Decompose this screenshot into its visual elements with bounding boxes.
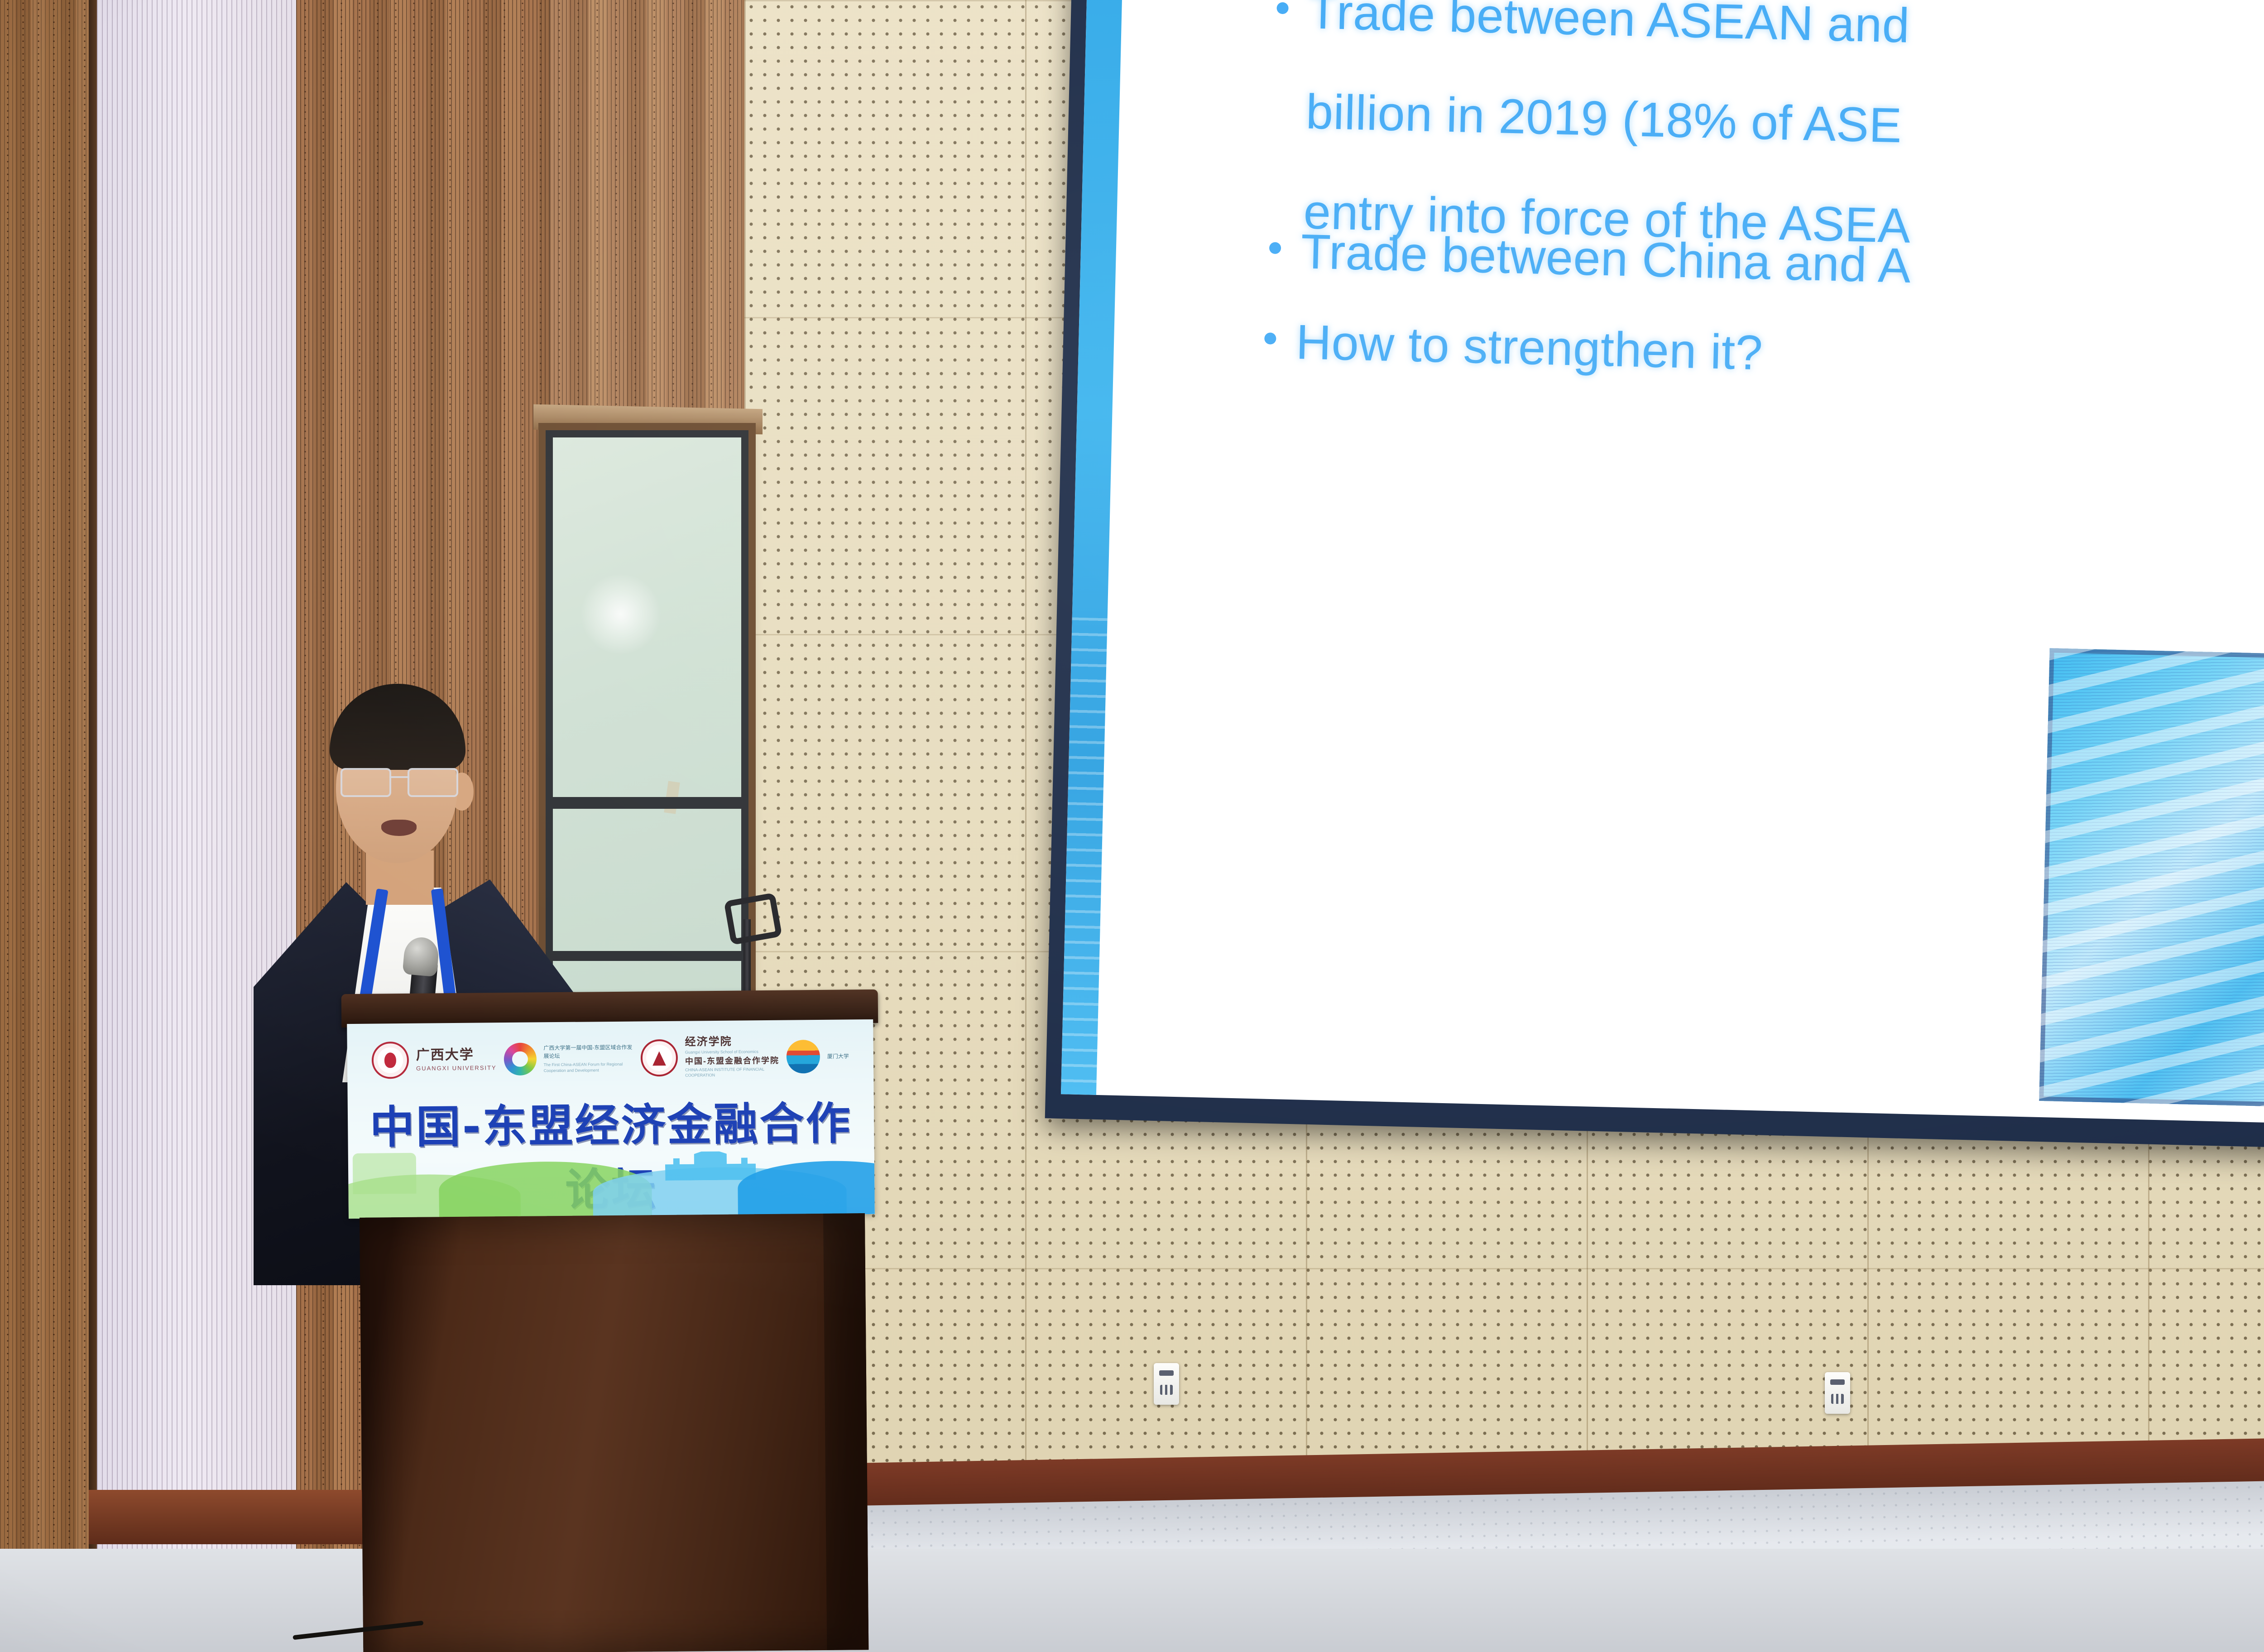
school-of-economics-name-block: 经济学院 Guangxi University School of Econom… (685, 1036, 779, 1079)
banner-artwork (348, 1146, 875, 1219)
bullet-4-line-1: How to strengthen it? (1295, 313, 1764, 381)
slide-accent-stripe (1061, 0, 1123, 1095)
slide-bullet-4: How to strengthen it? (1264, 312, 1764, 381)
forum-name-block: 广西大学第一届中国-东盟区域合作发展论坛 The First China-ASE… (543, 1043, 634, 1074)
wood-panel-left (0, 0, 89, 1652)
asean-flag-image (2039, 648, 2264, 1114)
window-glare (580, 573, 662, 655)
wall-outlet-right (1825, 1372, 1850, 1414)
slide-bullet-4-text: How to strengthen it? (1295, 313, 1764, 381)
guangxi-university-seal-icon (372, 1042, 409, 1079)
university-sun-logo-icon (787, 1040, 820, 1074)
podium-side-edge (823, 1213, 868, 1650)
school-of-economics-en-name: Guangxi University School of Economics (685, 1049, 776, 1055)
podium: 广西大学 GUANGXI UNIVERSITY 广西大学第一届中国-东盟区域合作… (341, 989, 884, 1652)
lens-right (408, 768, 458, 797)
lens-left (341, 768, 391, 797)
school-of-economics-seal-icon (641, 1039, 678, 1077)
eyeglasses-icon (339, 768, 460, 796)
glasses-bridge (389, 776, 409, 778)
slide-content: China has retai Trade between ASEAN and … (1115, 0, 2264, 1128)
guangxi-university-name-block: 广西大学 GUANGXI UNIVERSITY (416, 1048, 497, 1072)
mouth (381, 820, 417, 836)
podium-body (360, 1213, 868, 1652)
institute-cn-name: 中国-东盟金融合作学院 (685, 1056, 779, 1065)
forum-en-name: The First China-ASEAN Forum for Regional… (544, 1061, 634, 1074)
slide-stripe-bands (1061, 618, 1108, 1095)
slide-bullet-2: Trade between ASEAN and billion in 2019 … (1271, 0, 1916, 254)
guangxi-university-en-name: GUANGXI UNIVERSITY (416, 1064, 497, 1072)
slide-bullet-2-text: Trade between ASEAN and billion in 2019 … (1303, 0, 1916, 254)
forum-cn-name: 广西大学第一届中国-东盟区域合作发展论坛 (543, 1043, 634, 1061)
banner-logo-row: 广西大学 GUANGXI UNIVERSITY 广西大学第一届中国-东盟区域合作… (347, 1031, 873, 1085)
bullet-dot-icon (1276, 2, 1289, 14)
wood-panel-left-perforations (0, 0, 89, 1652)
slide-surface: China has retai Trade between ASEAN and … (1061, 0, 2264, 1128)
hair (330, 684, 465, 770)
microphone-clip-icon (724, 893, 782, 945)
school-of-economics-cn-name: 经济学院 (685, 1036, 779, 1048)
bullet-2-line-1: Trade between ASEAN and (1308, 0, 1916, 54)
wood-panel-divider (89, 0, 97, 1652)
banner-logos-right: 经济学院 Guangxi University School of Econom… (641, 1036, 849, 1079)
photo-scene: China has retai Trade between ASEAN and … (0, 0, 2264, 1652)
podium-banner: 广西大学 GUANGXI UNIVERSITY 广西大学第一届中国-东盟区域合作… (347, 1019, 875, 1219)
wall-outlet-left (1154, 1363, 1179, 1405)
projection-screen: China has retai Trade between ASEAN and … (1045, 0, 2264, 1152)
bullet-dot-icon (1264, 332, 1276, 345)
floor (0, 1549, 2264, 1652)
banner-logos-left: 广西大学 GUANGXI UNIVERSITY 广西大学第一届中国-东盟区域合作… (372, 1040, 634, 1079)
forum-rainbow-logo-icon (504, 1042, 537, 1076)
guangxi-university-cn-name: 广西大学 (416, 1048, 497, 1062)
bridge-silhouette-icon (665, 1150, 756, 1181)
university-cn-name: 厦门大学 (827, 1052, 849, 1060)
bullet-dot-icon (1269, 242, 1281, 254)
flag-fabric-waves (2039, 648, 2264, 1114)
bullet-2-line-2: billion in 2019 (18% of ASE (1305, 83, 1914, 154)
institute-en-name: CHINA-ASEAN INSTITUTE OF FINANCIAL COOPE… (685, 1066, 776, 1079)
